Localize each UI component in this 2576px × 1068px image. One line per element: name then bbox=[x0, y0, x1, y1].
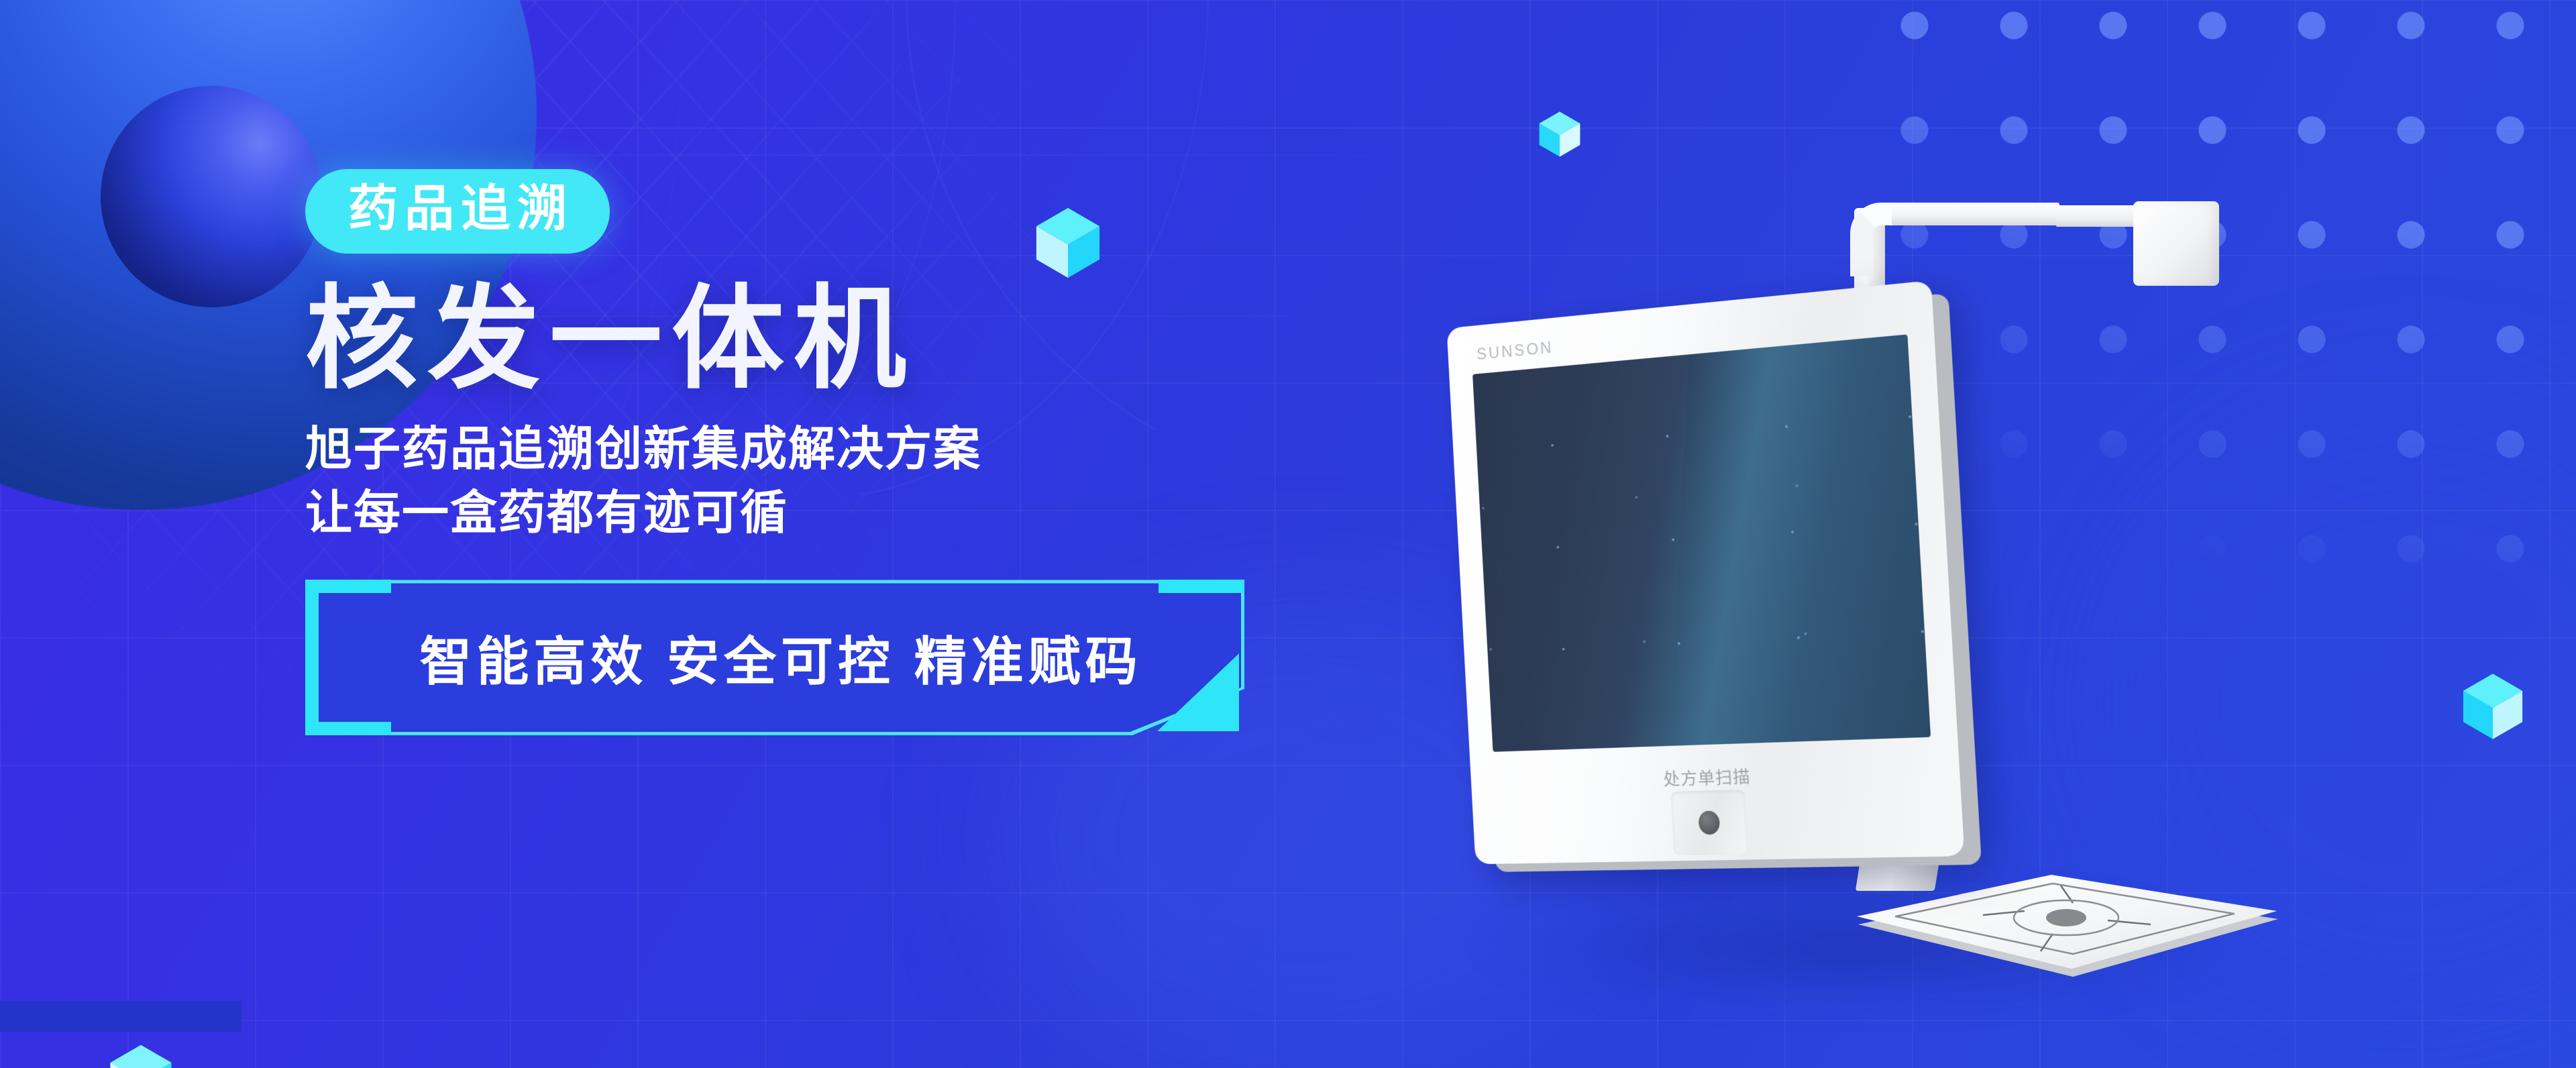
subtitle-line-2: 让每一盒药都有迹可循 bbox=[305, 481, 1278, 545]
device-illustration: SUNSON 处方单扫描 bbox=[1449, 161, 2308, 912]
monitor-screen bbox=[1472, 334, 1931, 751]
device-brand-label: SUNSON bbox=[1477, 338, 1554, 364]
banner-content: 药品追溯 核发一体机 旭子药品追溯创新集成解决方案 让每一盒药都有迹可循 智能高… bbox=[305, 169, 1278, 735]
feature-bar: 智能高效 安全可控 精准赋码 bbox=[305, 580, 1244, 735]
camera-arm-boom bbox=[1892, 203, 2059, 225]
cube-right-low-icon bbox=[2454, 667, 2532, 745]
subtitle-block: 旭子药品追溯创新集成解决方案 让每一盒药都有迹可循 bbox=[305, 417, 1278, 545]
promo-banner: 药品追溯 核发一体机 旭子药品追溯创新集成解决方案 让每一盒药都有迹可循 智能高… bbox=[0, 0, 2576, 1068]
scan-lens-icon bbox=[1698, 810, 1720, 835]
camera-head bbox=[2133, 201, 2219, 286]
frame-corner-top-right-h bbox=[1159, 580, 1244, 593]
category-badge: 药品追溯 bbox=[305, 169, 610, 254]
page-title: 核发一体机 bbox=[305, 279, 1278, 398]
small-sphere-decor bbox=[101, 86, 322, 307]
monitor-unit: SUNSON 处方单扫描 bbox=[1446, 280, 1964, 864]
scan-module-label: 处方单扫描 bbox=[1470, 757, 1960, 795]
bottom-left-bar-decor bbox=[0, 1001, 241, 1032]
category-badge-label: 药品追溯 bbox=[341, 184, 574, 233]
screen-wallpaper bbox=[1472, 334, 1931, 751]
camera-arm-boom-extension bbox=[2056, 205, 2143, 227]
monitor-bezel: SUNSON 处方单扫描 bbox=[1446, 280, 1964, 864]
cube-bottom-left-icon bbox=[101, 1038, 181, 1068]
feature-bar-label: 智能高效 安全可控 精准赋码 bbox=[305, 620, 1244, 695]
cube-top-right-icon bbox=[1533, 107, 1587, 161]
subtitle-line-1: 旭子药品追溯创新集成解决方案 bbox=[305, 417, 1278, 481]
scan-window bbox=[1670, 790, 1748, 855]
